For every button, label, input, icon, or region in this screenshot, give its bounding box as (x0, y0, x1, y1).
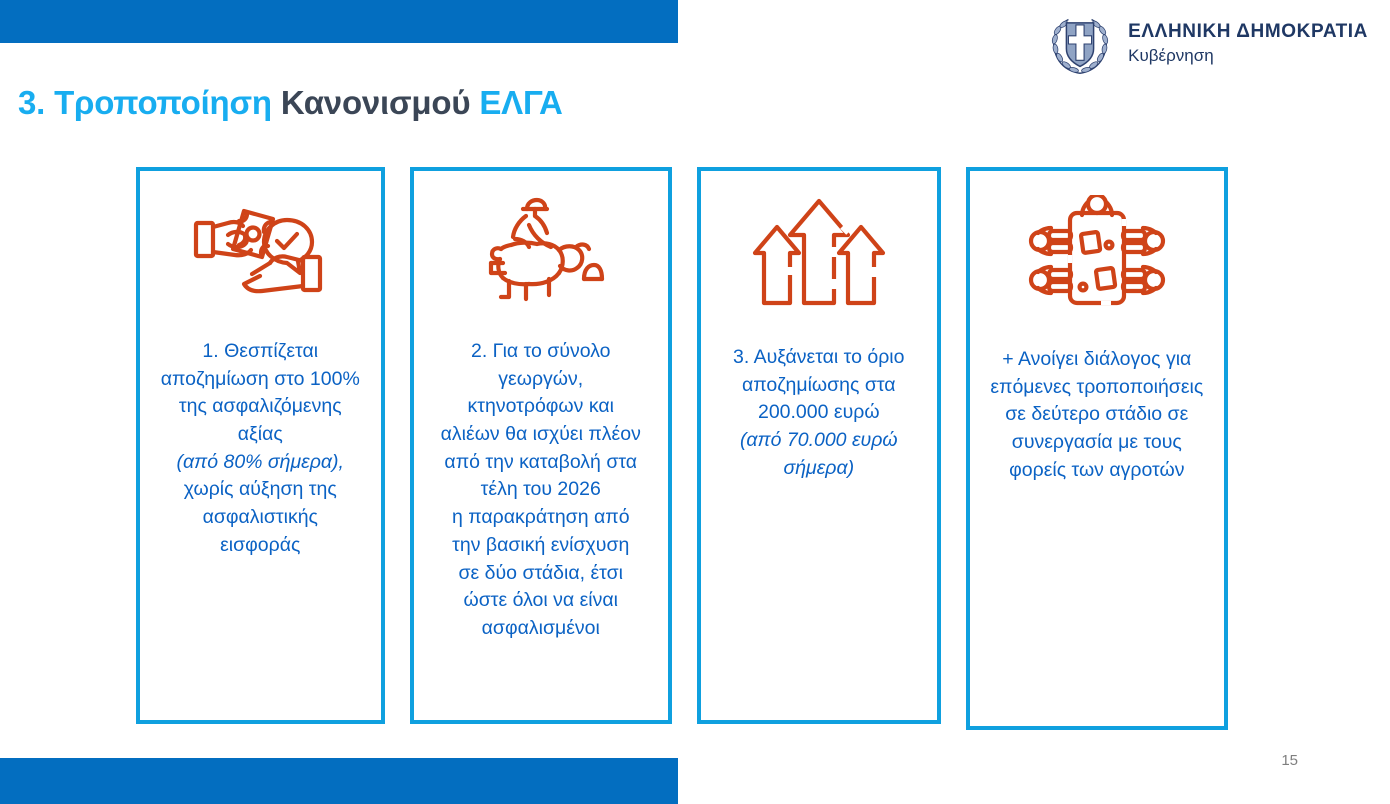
card-2-line-6: τέλη του 2026 (481, 478, 601, 500)
card-4[interactable]: + Ανοίγει διάλογος γιαεπόμενες τροποποιή… (966, 167, 1228, 730)
card-2-line-10: ώστε όλοι να είναι (464, 589, 618, 611)
card-1-line-6: χωρίς αύξηση της (184, 478, 337, 500)
card-2-line-7: η παρακράτηση από (452, 506, 630, 528)
page-title-part2: Κανονισμού (281, 84, 480, 121)
card-1[interactable]: 1. Θεσπίζεταιαποζημίωση στο 100%της ασφα… (136, 167, 385, 724)
government-logo-text: ΕΛΛΗΝΙΚΗ ΔΗΜΟΚΡΑΤΙΑ Κυβέρνηση (1128, 21, 1368, 66)
card-1-line-2: αποζημίωση στο 100% (161, 368, 360, 390)
card-1-line-4: αξίας (238, 423, 283, 445)
logo-line-government: Κυβέρνηση (1128, 45, 1368, 66)
card-2-line-4: αλιέων θα ισχύει πλέον (441, 423, 641, 445)
hand-giving-money-icon (190, 197, 330, 312)
top-decorative-bar (0, 0, 678, 43)
card-3-line-2: αποζημίωσης στα (742, 374, 896, 396)
government-logo: ΕΛΛΗΝΙΚΗ ΔΗΜΟΚΡΑΤΙΑ Κυβέρνηση (1046, 10, 1368, 78)
card-4-line-1: + Ανοίγει διάλογος για (1002, 348, 1191, 370)
card-1-text: 1. Θεσπίζεταιαποζημίωση στο 100%της ασφα… (157, 338, 364, 560)
cards-container: 1. Θεσπίζεταιαποζημίωση στο 100%της ασφα… (136, 167, 1228, 730)
slide-root: 3. Τροποποίηση Κανονισμού ΕΛΓΑ (0, 0, 1390, 804)
card-2-line-11: ασφαλισμένοι (482, 617, 600, 639)
card-3-line-4: (από 70.000 ευρώ (740, 429, 898, 451)
card-1-line-3: της ασφαλιζόμενης (179, 395, 342, 417)
card-2-line-9: σε δύο στάδια, έτσι (459, 562, 623, 584)
card-3-line-3: 200.000 ευρώ (758, 401, 880, 423)
card-3-line-5: σήμερα) (783, 457, 854, 479)
card-1-line-1: 1. Θεσπίζεται (202, 340, 318, 362)
page-number: 15 (1281, 752, 1298, 769)
page-title: 3. Τροποποίηση Κανονισμού ΕΛΓΑ (18, 84, 563, 122)
card-3-text: 3. Αυξάνεται το όριοαποζημίωσης στα200.0… (729, 344, 908, 482)
card-1-line-8: εισφοράς (220, 534, 300, 556)
farmer-shearing-sheep-icon (471, 197, 611, 312)
page-title-part1: 3. Τροποποίηση (18, 84, 281, 121)
bottom-decorative-bar (0, 758, 678, 804)
card-3-line-1: 3. Αυξάνεται το όριο (733, 346, 904, 368)
card-4-line-2: επόμενες τροποποιήσεις (990, 376, 1203, 398)
card-4-line-4: συνεργασία με τους (1012, 431, 1182, 453)
card-3[interactable]: 3. Αυξάνεται το όριοαποζημίωσης στα200.0… (697, 167, 941, 724)
card-4-line-3: σε δεύτερο στάδιο σε (1005, 403, 1188, 425)
card-4-line-5: φορείς των αγροτών (1009, 459, 1184, 481)
card-2-text: 2. Για το σύνολογεωργών,κτηνοτρόφων καια… (437, 338, 645, 643)
card-1-line-5: (από 80% σήμερα), (177, 451, 344, 473)
card-1-line-7: ασφαλιστικής (203, 506, 318, 528)
card-2-line-3: κτηνοτρόφων και (468, 395, 614, 417)
card-2-line-5: από την καταβολή στα (444, 451, 637, 473)
conference-table-meeting-icon (1027, 197, 1167, 312)
three-up-arrows-icon (749, 197, 889, 312)
card-4-text: + Ανοίγει διάλογος γιαεπόμενες τροποποιή… (986, 346, 1207, 484)
logo-line-hellenic-republic: ΕΛΛΗΝΙΚΗ ΔΗΜΟΚΡΑΤΙΑ (1128, 21, 1368, 43)
page-title-part3: ΕΛΓΑ (479, 84, 562, 121)
card-2-line-8: την βασική ενίσχυση (452, 534, 629, 556)
card-2-line-2: γεωργών, (498, 368, 583, 390)
card-2[interactable]: 2. Για το σύνολογεωργών,κτηνοτρόφων καια… (410, 167, 672, 724)
card-2-line-1: 2. Για το σύνολο (471, 340, 611, 362)
hellenic-republic-emblem-icon (1046, 10, 1114, 78)
